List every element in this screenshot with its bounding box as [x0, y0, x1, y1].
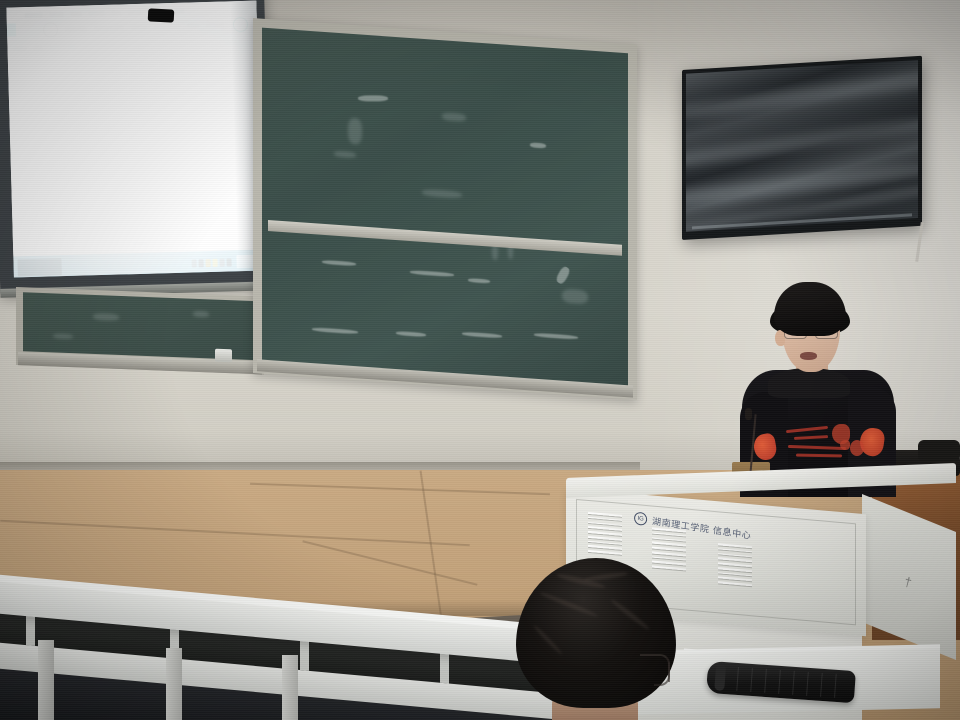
- umbrella-strap: [714, 663, 726, 691]
- presenter-chest-print: [784, 424, 858, 460]
- umbrella-handle: [148, 8, 175, 22]
- projector-light-bloom: [6, 1, 263, 278]
- desk-leg-left: [38, 640, 54, 720]
- desk-leg-center: [166, 648, 182, 720]
- chalk-eraser[interactable]: [215, 349, 232, 363]
- side-blackboard: [16, 287, 264, 375]
- student-glasses-temple: [654, 662, 670, 686]
- presenter-hair: [774, 282, 846, 336]
- classroom-photo-scene: IG 湖南理工学院 信息中心 †: [0, 0, 960, 720]
- podium-vent-right: [718, 543, 752, 589]
- microphone-head-icon: [745, 408, 752, 420]
- student-back-of-head: [516, 558, 682, 720]
- presenter-mouth-speaking: [800, 352, 817, 360]
- student-hair: [516, 558, 676, 708]
- podium-vent-left: [588, 512, 622, 558]
- dark-bag-secondary[interactable]: [918, 440, 960, 462]
- main-blackboard: [253, 18, 637, 400]
- projector-screen-surface[interactable]: [6, 1, 263, 278]
- institution-logo-icon: IG: [634, 511, 648, 526]
- blackboard-middle-rail: [268, 220, 622, 256]
- presenter-hood: [768, 368, 850, 398]
- tv-screen[interactable]: [686, 60, 918, 232]
- main-blackboard-surface: [262, 28, 628, 391]
- wall-mounted-tv[interactable]: [682, 56, 922, 240]
- projector-screen[interactable]: [0, 0, 272, 294]
- desk-leg-right: [282, 655, 298, 720]
